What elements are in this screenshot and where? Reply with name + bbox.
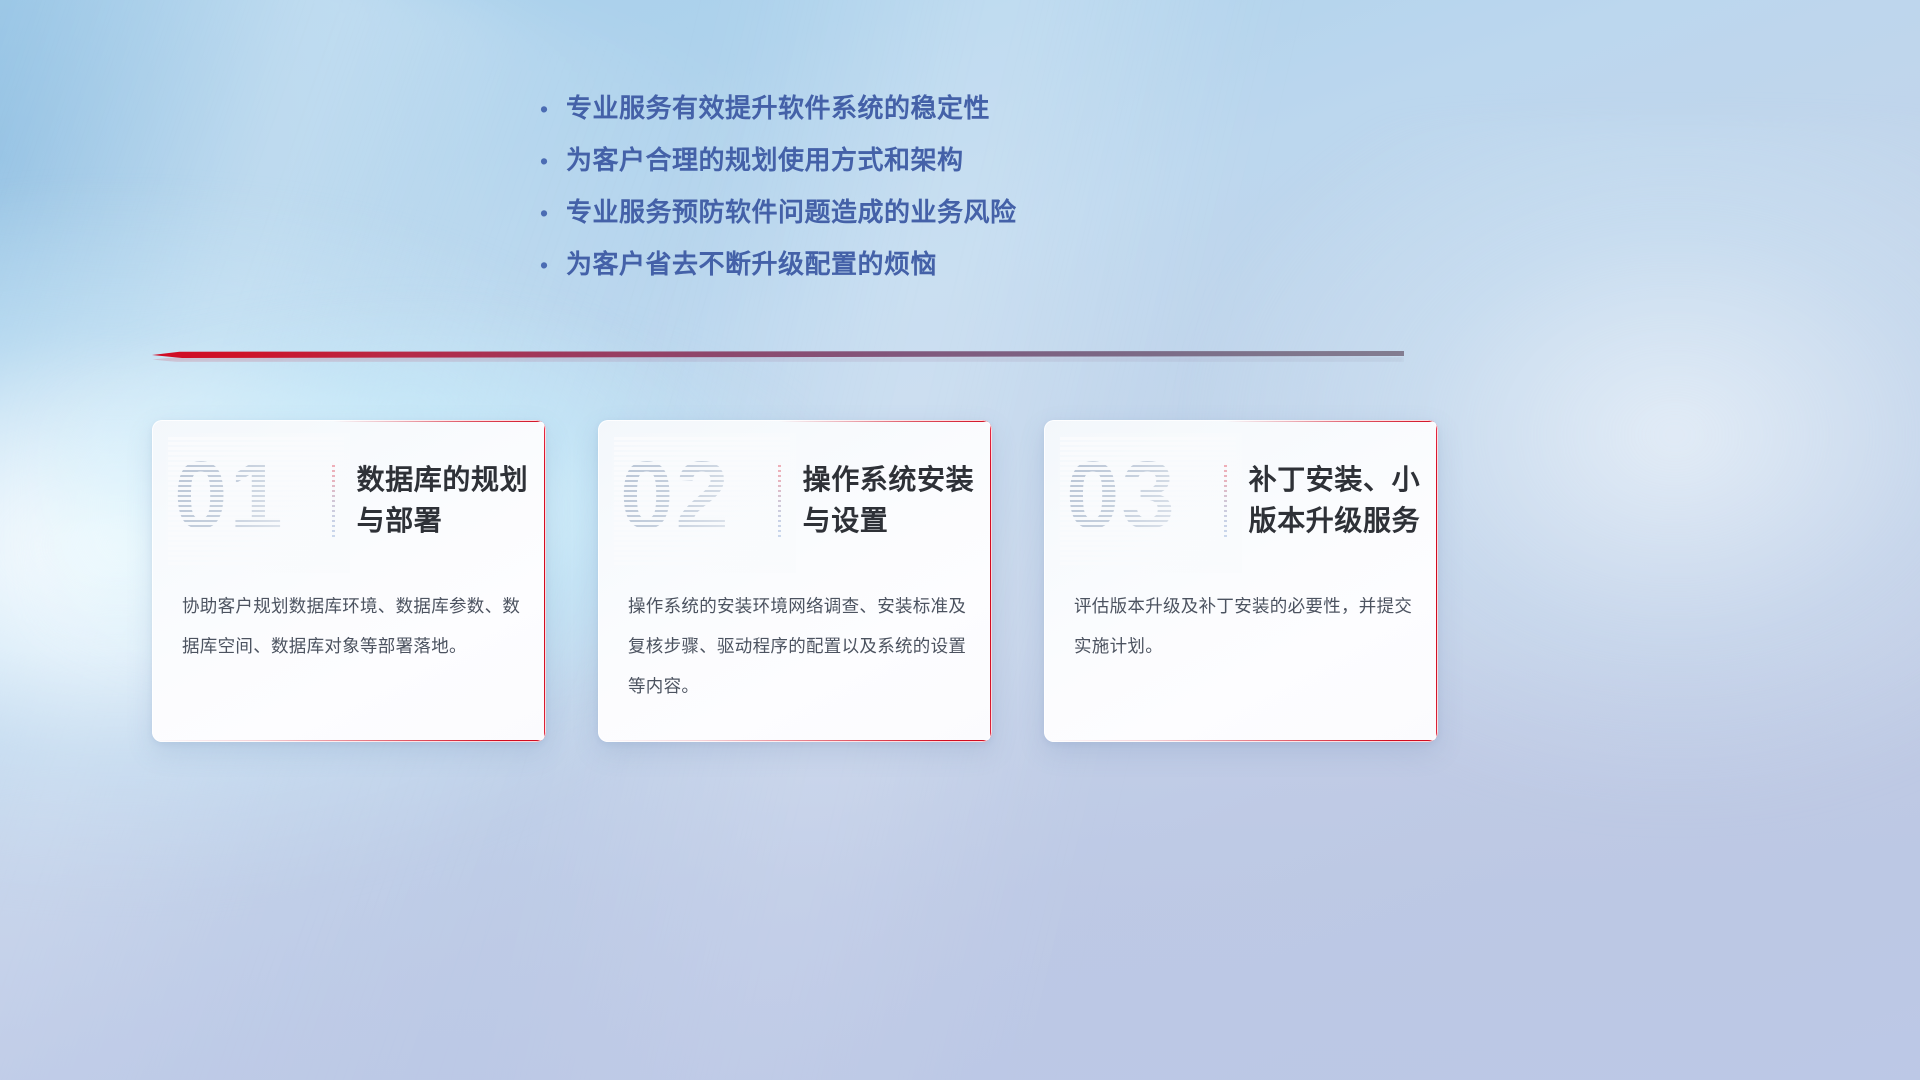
- card-title: 操作系统安装与设置: [803, 459, 992, 541]
- card-number-watermark: 03: [1066, 445, 1224, 555]
- bullet-text: 为客户合理的规划使用方式和架构: [566, 140, 964, 177]
- card-header: 01 数据库的规划与部署: [152, 420, 546, 580]
- card-title-accent-bar: [778, 463, 781, 537]
- card-title-accent-bar: [1224, 463, 1227, 537]
- card-number-text: 02: [620, 441, 731, 551]
- card-accent-top: [152, 420, 546, 422]
- bullet-dot-icon: •: [540, 202, 566, 225]
- service-card[interactable]: 02 操作系统安装与设置 操作系统的安装环境网络调查、安装标准及复核步骤、驱动程…: [598, 420, 992, 742]
- card-accent-bottom: [1044, 740, 1438, 742]
- bullet-text: 为客户省去不断升级配置的烦恼: [566, 244, 937, 281]
- card-body-text: 评估版本升级及补丁安装的必要性，并提交实施计划。: [1074, 586, 1414, 666]
- card-accent-bottom: [152, 740, 546, 742]
- bullet-dot-icon: •: [540, 150, 566, 173]
- card-body-text: 操作系统的安装环境网络调查、安装标准及复核步骤、驱动程序的配置以及系统的设置等内…: [628, 586, 968, 706]
- card-title-accent-bar: [332, 463, 335, 537]
- card-header: 02 操作系统安装与设置: [598, 420, 992, 580]
- list-item: • 专业服务预防软件问题造成的业务风险: [540, 192, 1160, 244]
- card-title: 补丁安装、小版本升级服务: [1249, 459, 1438, 541]
- service-card[interactable]: 01 数据库的规划与部署 协助客户规划数据库环境、数据库参数、数据库空间、数据库…: [152, 420, 546, 742]
- card-accent-right: [990, 420, 992, 742]
- card-number-text: 03: [1066, 441, 1177, 551]
- list-item: • 为客户合理的规划使用方式和架构: [540, 140, 1160, 192]
- card-accent-bottom: [598, 740, 992, 742]
- divider-line: [152, 351, 1404, 358]
- list-item: • 为客户省去不断升级配置的烦恼: [540, 244, 1160, 296]
- service-card-group: 01 数据库的规划与部署 协助客户规划数据库环境、数据库参数、数据库空间、数据库…: [0, 420, 1920, 745]
- card-body-text: 协助客户规划数据库环境、数据库参数、数据库空间、数据库对象等部署落地。: [182, 586, 522, 666]
- service-card[interactable]: 03 补丁安装、小版本升级服务 评估版本升级及补丁安装的必要性，并提交实施计划。: [1044, 420, 1438, 742]
- bullet-dot-icon: •: [540, 254, 566, 277]
- card-number-watermark: 02: [620, 445, 778, 555]
- card-number-text: 01: [174, 441, 285, 551]
- divider-shadow: [152, 357, 1404, 362]
- card-accent-top: [598, 420, 992, 422]
- card-accent-right: [544, 420, 546, 742]
- section-divider: [152, 348, 1404, 364]
- card-header: 03 补丁安装、小版本升级服务: [1044, 420, 1438, 580]
- bullet-text: 专业服务有效提升软件系统的稳定性: [566, 88, 990, 125]
- bullet-text: 专业服务预防软件问题造成的业务风险: [566, 192, 1017, 229]
- list-item: • 专业服务有效提升软件系统的稳定性: [540, 88, 1160, 140]
- card-number-watermark: 01: [174, 445, 332, 555]
- card-accent-right: [1436, 420, 1438, 742]
- card-title: 数据库的规划与部署: [357, 459, 546, 541]
- bullet-dot-icon: •: [540, 98, 566, 121]
- benefits-bullet-list: • 专业服务有效提升软件系统的稳定性 • 为客户合理的规划使用方式和架构 • 专…: [540, 88, 1160, 296]
- card-accent-top: [1044, 420, 1438, 422]
